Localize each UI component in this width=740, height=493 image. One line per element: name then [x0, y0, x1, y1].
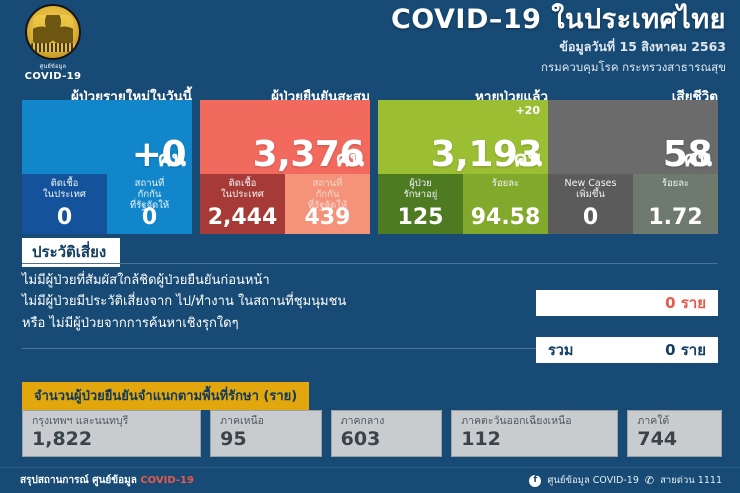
hotline-label: สายด่วน 1111: [660, 473, 722, 488]
header: ศูนย์ข้อมูล COVID-19 COVID–19 ในประเทศไท…: [0, 0, 740, 82]
sub-cell: ติดเชื้อในประเทศ 2,444: [200, 174, 285, 234]
regions-list: กรุงเทพฯ และนนทบุรี 1,822 ภาคเหนือ 95 ภา…: [22, 410, 722, 457]
region-value: 112: [461, 429, 608, 451]
footer: สรุปสถานการณ์ ศูนย์ข้อมูล COVID-19 f ศูน…: [0, 467, 740, 493]
stat-card-unit: คน: [684, 143, 712, 176]
sub-cell-value: 125: [378, 207, 463, 229]
sub-cell-label: ร้อยละ: [492, 179, 519, 190]
page-title: COVID–19 ในประเทศไทย: [391, 5, 726, 34]
stat-card-subcells: ติดเชื้อในประเทศ 2,444 สถานที่กักกันที่ร…: [200, 174, 370, 234]
stat-card-cumulative-confirmed: ผู้ป่วยยืนยันสะสม 3,376 คน ติดเชื้อในประ…: [200, 100, 370, 234]
regions-banner: จำนวนผู้ป่วยยืนยันจำแนกตามพื้นที่รักษา (…: [22, 382, 309, 410]
sub-cell-label: ร้อยละ: [662, 179, 689, 190]
sub-cell-value: 0: [22, 207, 107, 229]
stat-card-delta: +20: [515, 104, 540, 117]
risk-total-box: รวม 0 ราย: [536, 337, 718, 363]
footer-contacts: f ศูนย์ข้อมูล COVID-19 ✆ สายด่วน 1111: [529, 473, 722, 488]
region-name: ภาคกลาง: [341, 416, 433, 428]
footer-summary-label: สรุปสถานการณ์ ศูนย์ข้อมูล: [20, 475, 140, 486]
stat-card-headline: 3,376 คน: [200, 100, 370, 174]
sub-cell: ติดเชื้อในประเทศ 0: [22, 174, 107, 234]
region-value: 603: [341, 429, 433, 451]
sub-cell: ร้อยละ 1.72: [633, 174, 718, 234]
risk-total-value: 0 ราย: [665, 338, 706, 362]
facebook-icon[interactable]: f: [529, 475, 541, 487]
sub-cell-value: 1.72: [633, 207, 718, 229]
divider-top: [22, 263, 718, 264]
data-date-line: ข้อมูลวันที่ 15 สิงหาคม 2563: [391, 37, 726, 57]
footer-left-text: สรุปสถานการณ์ ศูนย์ข้อมูล COVID-19: [20, 473, 194, 488]
stat-card-new-cases: ผู้ป่วยรายใหม่ในวันนี้ +0 คน ติดเชื้อในป…: [22, 100, 192, 234]
stat-card-unit: คน: [514, 143, 542, 176]
region-name: ภาคใต้: [637, 416, 712, 428]
stat-card-headline: +0 คน: [22, 100, 192, 174]
region-card: กรุงเทพฯ และนนทบุรี 1,822: [22, 410, 201, 457]
risk-total-label: รวม: [548, 339, 574, 362]
sub-cell-label: ติดเชื้อในประเทศ: [43, 179, 86, 201]
sub-cell-value: 2,444: [200, 207, 285, 229]
sub-cell-label: ผู้ป่วยรักษาอยู่: [404, 179, 438, 201]
sub-cell: สถานที่กักกันที่รัฐจัดให้ 439: [285, 174, 370, 234]
region-name: ภาคตะวันออกเฉียงเหนือ: [461, 416, 608, 428]
sub-cell: ร้อยละ 94.58: [463, 174, 548, 234]
covid-dashboard-infographic: ศูนย์ข้อมูล COVID-19 COVID–19 ในประเทศไท…: [0, 0, 740, 493]
region-card: ภาคเหนือ 95: [210, 410, 322, 457]
sub-cell-value: 94.58: [463, 207, 548, 229]
stat-card-subcells: ผู้ป่วยรักษาอยู่ 125 ร้อยละ 94.58: [378, 174, 548, 234]
stat-card-recovered: หายป่วยแล้ว +20 3,193 คน ผู้ป่วยรักษาอยู…: [378, 100, 548, 234]
sub-cell-value: 0: [107, 207, 192, 229]
risk-count-value: 0 ราย: [665, 291, 706, 315]
logo-subtitle-en: COVID-19: [14, 71, 92, 82]
sub-cell-value: 439: [285, 207, 370, 229]
organization-line: กรมควบคุมโรค กระทรวงสาธารณสุข: [391, 59, 726, 77]
region-card: ภาคตะวันออกเฉียงเหนือ 112: [451, 410, 618, 457]
sub-cell-label: ติดเชื้อในประเทศ: [221, 179, 264, 201]
stat-card-headline: 58 คน: [548, 100, 718, 174]
region-value: 744: [637, 429, 712, 451]
region-card: ภาคกลาง 603: [331, 410, 443, 457]
risk-count-box: 0 ราย: [536, 290, 718, 316]
garuda-emblem-icon: [25, 4, 81, 60]
sub-cell: New Casesเพิ่มขึ้น 0: [548, 174, 633, 234]
title-block: COVID–19 ในประเทศไทย ข้อมูลวันที่ 15 สิง…: [391, 5, 726, 77]
sub-cell: สถานที่กักกันที่รัฐจัดให้ 0: [107, 174, 192, 234]
logo-block: ศูนย์ข้อมูล COVID-19: [14, 4, 92, 82]
phone-icon: ✆: [645, 474, 654, 487]
sub-cell-value: 0: [548, 207, 633, 229]
region-name: ภาคเหนือ: [220, 416, 312, 428]
stat-card-subcells: ติดเชื้อในประเทศ 0 สถานที่กักกันที่รัฐจั…: [22, 174, 192, 234]
facebook-page-label: ศูนย์ข้อมูล COVID-19: [547, 473, 638, 488]
logo-subtitle-th: ศูนย์ข้อมูล: [14, 63, 92, 71]
footer-covid-label: COVID-19: [140, 475, 194, 486]
stat-card-unit: คน: [336, 143, 364, 176]
risk-history-text: ไม่มีผู้ป่วยที่สัมผัสใกล้ชิดผู้ป่วยยืนยั…: [22, 270, 492, 334]
region-value: 1,822: [32, 429, 191, 451]
stat-card-deaths: เสียชีวิต 58 คน New Casesเพิ่มขึ้น 0 ร้อ…: [548, 100, 718, 234]
stat-card-headline: +20 3,193 คน: [378, 100, 548, 174]
stat-cards: ผู้ป่วยรายใหม่ในวันนี้ +0 คน ติดเชื้อในป…: [0, 86, 740, 234]
stat-card-subcells: New Casesเพิ่มขึ้น 0 ร้อยละ 1.72: [548, 174, 718, 234]
region-value: 95: [220, 429, 312, 451]
region-card: ภาคใต้ 744: [627, 410, 722, 457]
sub-cell-label: New Casesเพิ่มขึ้น: [565, 179, 617, 201]
stat-card-unit: คน: [158, 143, 186, 176]
sub-cell: ผู้ป่วยรักษาอยู่ 125: [378, 174, 463, 234]
region-name: กรุงเทพฯ และนนทบุรี: [32, 416, 191, 428]
